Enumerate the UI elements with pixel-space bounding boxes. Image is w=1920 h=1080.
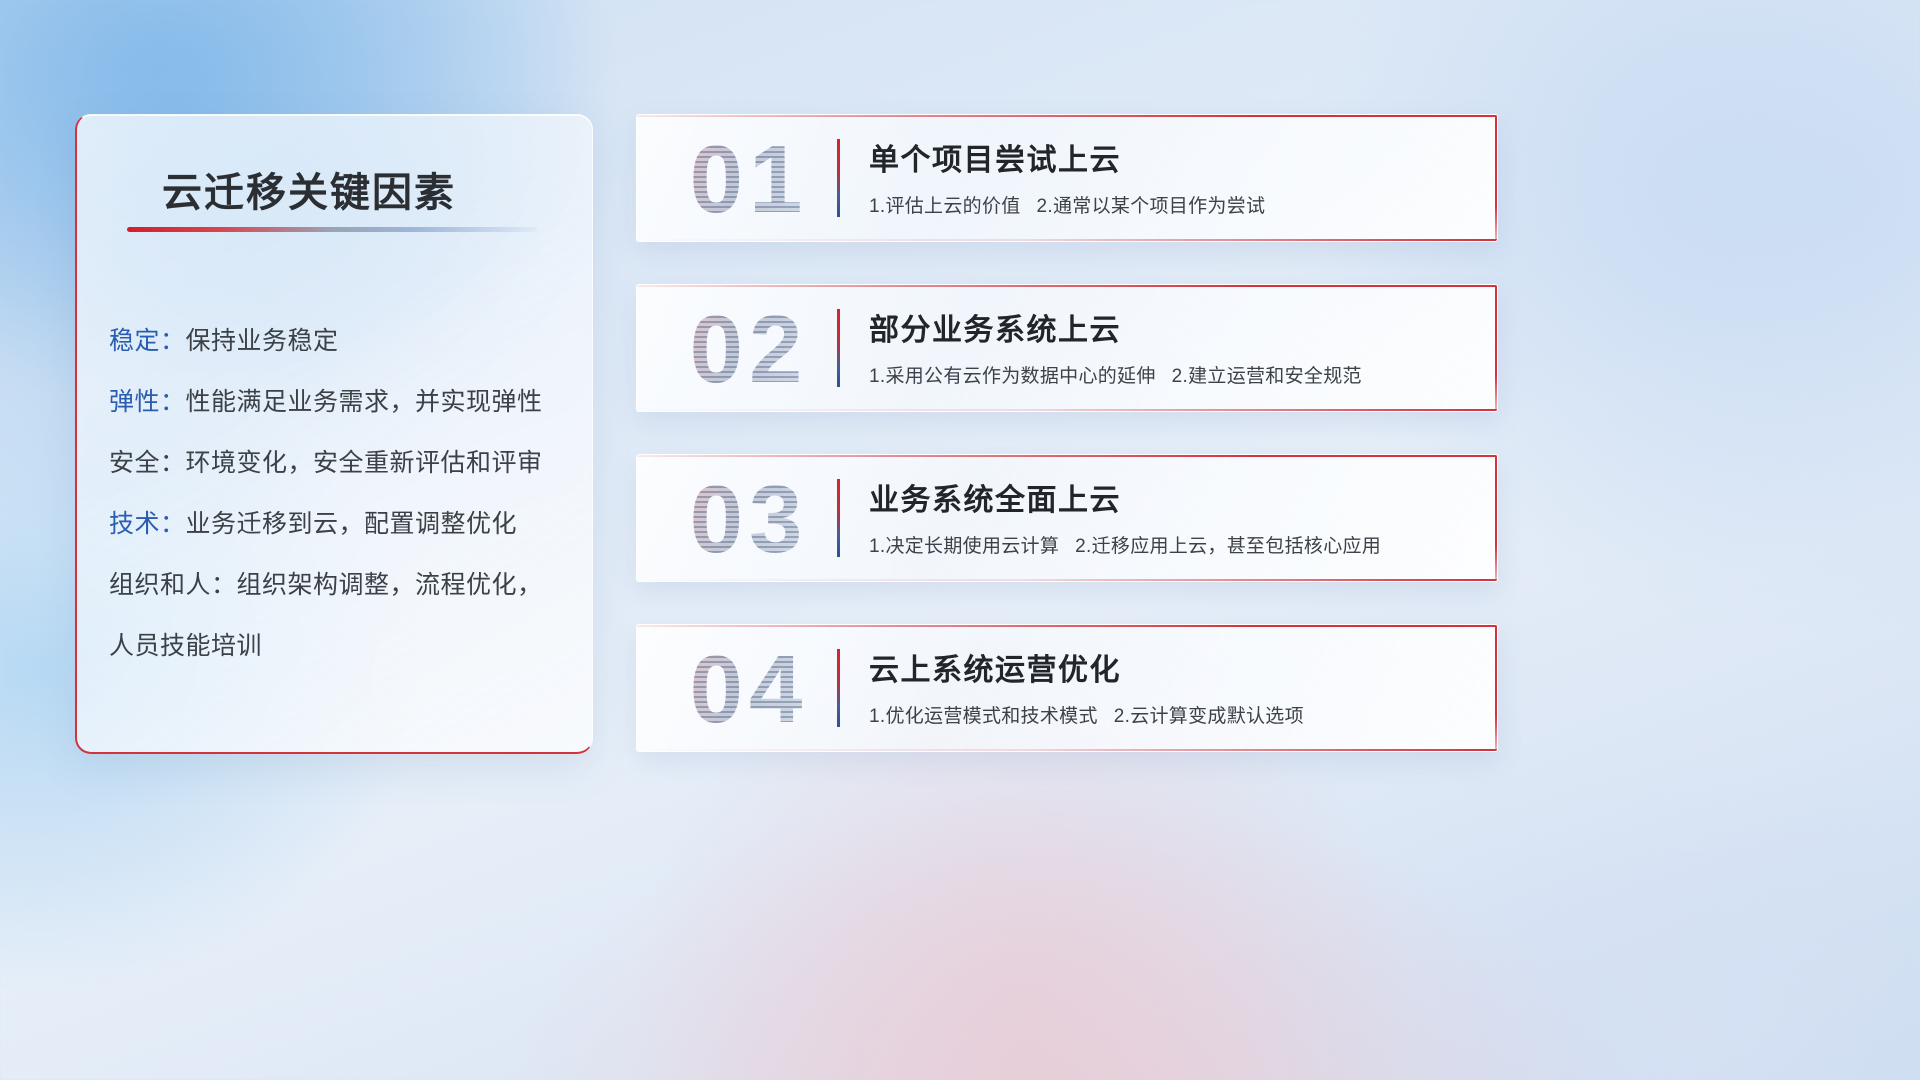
- list-item-text: 性能满足业务需求，并实现弹性: [186, 388, 543, 416]
- accent-bar: [837, 479, 840, 557]
- list-item-key: 安全：: [109, 449, 186, 477]
- step-description: 1.评估上云的价值2.通常以某个项目作为尝试: [869, 191, 1265, 218]
- step-number-watermark: 02: [659, 291, 839, 409]
- page-title: 云迁移关键因素: [162, 160, 456, 218]
- step-card-03[interactable]: 03 业务系统全面上云 1.决定长期使用云计算2.迁移应用上云，甚至包括核心应用: [636, 454, 1498, 582]
- step-title: 单个项目尝试上云: [869, 135, 1121, 179]
- step-description-part-2: 2.建立运营和安全规范: [1172, 366, 1362, 387]
- step-title: 业务系统全面上云: [869, 475, 1121, 519]
- accent-bar: [837, 309, 840, 387]
- accent-bar: [837, 649, 840, 727]
- step-title: 部分业务系统上云: [869, 305, 1121, 349]
- step-description-part-2: 2.通常以某个项目作为尝试: [1037, 196, 1266, 217]
- step-description: 1.采用公有云作为数据中心的延伸2.建立运营和安全规范: [869, 361, 1362, 388]
- list-item-key: 技术：: [109, 510, 186, 538]
- step-description-part-1: 1.决定长期使用云计算: [869, 536, 1059, 557]
- step-number-watermark: 04: [659, 631, 839, 749]
- list-item-text: 人员技能培训: [109, 632, 262, 660]
- list-item: 弹性：性能满足业务需求，并实现弹性: [109, 372, 568, 433]
- list-item-key: 弹性：: [109, 388, 186, 416]
- card-bottom-accent: [637, 409, 1497, 411]
- list-item-text: 业务迁移到云，配置调整优化: [186, 510, 518, 538]
- step-card-02[interactable]: 02 部分业务系统上云 1.采用公有云作为数据中心的延伸2.建立运营和安全规范: [636, 284, 1498, 412]
- list-item-key: 稳定：: [109, 327, 186, 355]
- step-description-part-1: 1.评估上云的价值: [869, 196, 1021, 217]
- list-item-text: 环境变化，安全重新评估和评审: [186, 449, 543, 477]
- list-item: 安全：环境变化，安全重新评估和评审: [109, 433, 568, 494]
- migration-steps-list: 01 单个项目尝试上云 1.评估上云的价值2.通常以某个项目作为尝试 02 部分…: [636, 114, 1498, 794]
- step-description-part-2: 2.云计算变成默认选项: [1114, 706, 1304, 727]
- list-item-continuation: 人员技能培训: [109, 616, 568, 677]
- list-item-text: 组织架构调整，流程优化，: [237, 571, 543, 599]
- step-description-part-2: 2.迁移应用上云，甚至包括核心应用: [1075, 536, 1381, 557]
- title-underline-gradient: [127, 227, 537, 232]
- step-card-01[interactable]: 01 单个项目尝试上云 1.评估上云的价值2.通常以某个项目作为尝试: [636, 114, 1498, 242]
- card-bottom-accent: [637, 239, 1497, 241]
- list-item-text: 保持业务稳定: [186, 327, 339, 355]
- accent-bar: [837, 139, 840, 217]
- step-title: 云上系统运营优化: [869, 645, 1121, 689]
- step-number-watermark: 03: [659, 461, 839, 579]
- step-description-part-1: 1.采用公有云作为数据中心的延伸: [869, 366, 1156, 387]
- step-description-part-1: 1.优化运营模式和技术模式: [869, 706, 1098, 727]
- slide-stage: 云迁移关键因素 稳定：保持业务稳定 弹性：性能满足业务需求，并实现弹性 安全：环…: [0, 0, 1920, 1080]
- list-item-key: 组织和人：: [109, 571, 237, 599]
- step-card-04[interactable]: 04 云上系统运营优化 1.优化运营模式和技术模式2.云计算变成默认选项: [636, 624, 1498, 752]
- card-bottom-accent: [637, 579, 1497, 581]
- step-description: 1.决定长期使用云计算2.迁移应用上云，甚至包括核心应用: [869, 531, 1381, 558]
- step-description: 1.优化运营模式和技术模式2.云计算变成默认选项: [869, 701, 1304, 728]
- key-factors-list: 稳定：保持业务稳定 弹性：性能满足业务需求，并实现弹性 安全：环境变化，安全重新…: [109, 311, 568, 677]
- step-number-watermark: 01: [659, 121, 839, 239]
- list-item: 技术：业务迁移到云，配置调整优化: [109, 494, 568, 555]
- list-item: 组织和人：组织架构调整，流程优化，: [109, 555, 568, 616]
- key-factors-card: 云迁移关键因素 稳定：保持业务稳定 弹性：性能满足业务需求，并实现弹性 安全：环…: [75, 114, 593, 754]
- card-bottom-accent: [637, 749, 1497, 751]
- list-item: 稳定：保持业务稳定: [109, 311, 568, 372]
